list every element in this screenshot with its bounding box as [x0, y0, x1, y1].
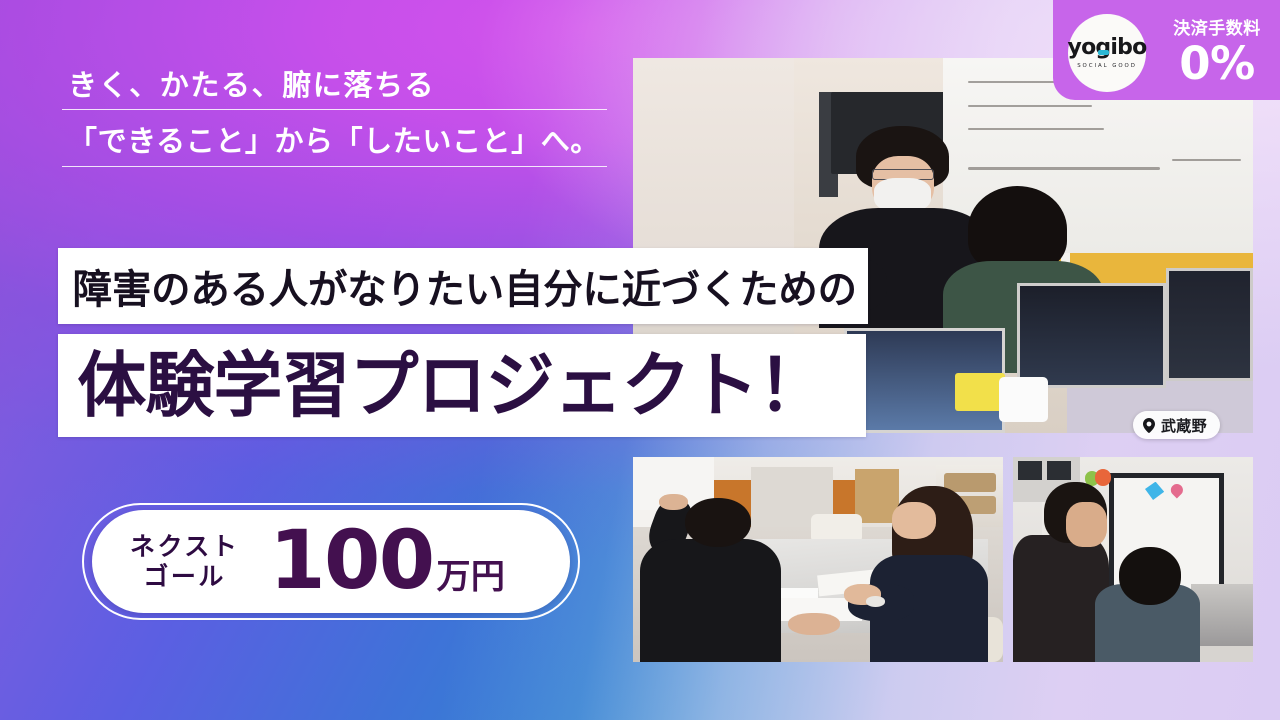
yogibo-logo-circle: yogibo SOCIAL GOOD	[1068, 14, 1146, 92]
sponsor-fee-value: 0%	[1157, 41, 1277, 86]
kicker-copy: きく、かたる、腑に落ちる 「できること」から「したいこと」へ。	[62, 68, 607, 167]
photo2-man-hand-2	[788, 613, 840, 636]
photo-yellow-item	[955, 373, 1005, 411]
photo2-man-hand	[659, 494, 689, 510]
meeting-room-photo	[633, 457, 1003, 662]
goal-label-line-1: ネクスト	[130, 532, 239, 562]
yogibo-tagline: SOCIAL GOOD	[1077, 63, 1137, 69]
title-subtitle-text: 障害のある人がなりたい自分に近づくための	[58, 257, 857, 315]
kicker-line-2: 「できること」から「したいこと」へ。	[62, 124, 607, 166]
title-headline-text: 体験学習プロジェクト！	[58, 350, 826, 421]
photo3-cabinet-panel-1	[1018, 461, 1042, 479]
location-tag: 武蔵野	[1133, 411, 1220, 439]
sponsor-fee-label: 決済手数料	[1157, 14, 1277, 39]
poster-canvas: 武蔵野 きく、かたる、腑に落ちる 「できること」から「したいこと」へ。 障害のあ…	[0, 0, 1280, 720]
goal-label: ネクスト ゴール	[130, 532, 239, 591]
title-bar-headline: 体験学習プロジェクト！	[58, 334, 866, 437]
photo2-woman-face	[892, 502, 936, 539]
map-pin-icon	[1143, 418, 1155, 433]
goal-label-line-2: ゴール	[130, 562, 239, 592]
yogibo-logo-text: yogibo	[1068, 35, 1147, 60]
goal-amount-value: 100	[269, 521, 433, 602]
sponsor-fee-group: 決済手数料 0%	[1157, 14, 1277, 86]
photo2-woman-watch	[866, 596, 885, 606]
photo3-standing-man-face	[1066, 502, 1107, 547]
photo2-man-head	[685, 498, 752, 547]
photo-cup	[999, 377, 1049, 422]
yogibo-accent-icon	[1098, 50, 1109, 55]
sponsor-badge: yogibo SOCIAL GOOD 決済手数料 0%	[1053, 0, 1280, 100]
photo-laptop-3	[1166, 268, 1253, 381]
photo3-seated-person-head	[1119, 547, 1181, 604]
kicker-line-1: きく、かたる、腑に落ちる	[62, 68, 607, 110]
photo-person2-hair	[968, 186, 1067, 272]
next-goal-badge: ネクスト ゴール 100 万円	[92, 510, 570, 613]
photo2-basket-1	[944, 473, 996, 491]
location-name: 武蔵野	[1161, 415, 1207, 436]
photo-person1-mask	[874, 178, 931, 212]
photo3-magnet-orange	[1095, 469, 1112, 485]
photo-laptop-2	[1017, 283, 1166, 388]
goal-amount-unit: 万円	[437, 549, 506, 598]
photo2-man-body	[640, 539, 781, 662]
goal-amount-group: 100 万円	[269, 521, 505, 602]
yogibo-wordmark: yogibo	[1068, 37, 1147, 59]
support-session-photo	[1013, 457, 1253, 662]
title-bar-subtitle: 障害のある人がなりたい自分に近づくための	[58, 248, 868, 324]
photo3-cabinet-panel-2	[1047, 461, 1071, 479]
